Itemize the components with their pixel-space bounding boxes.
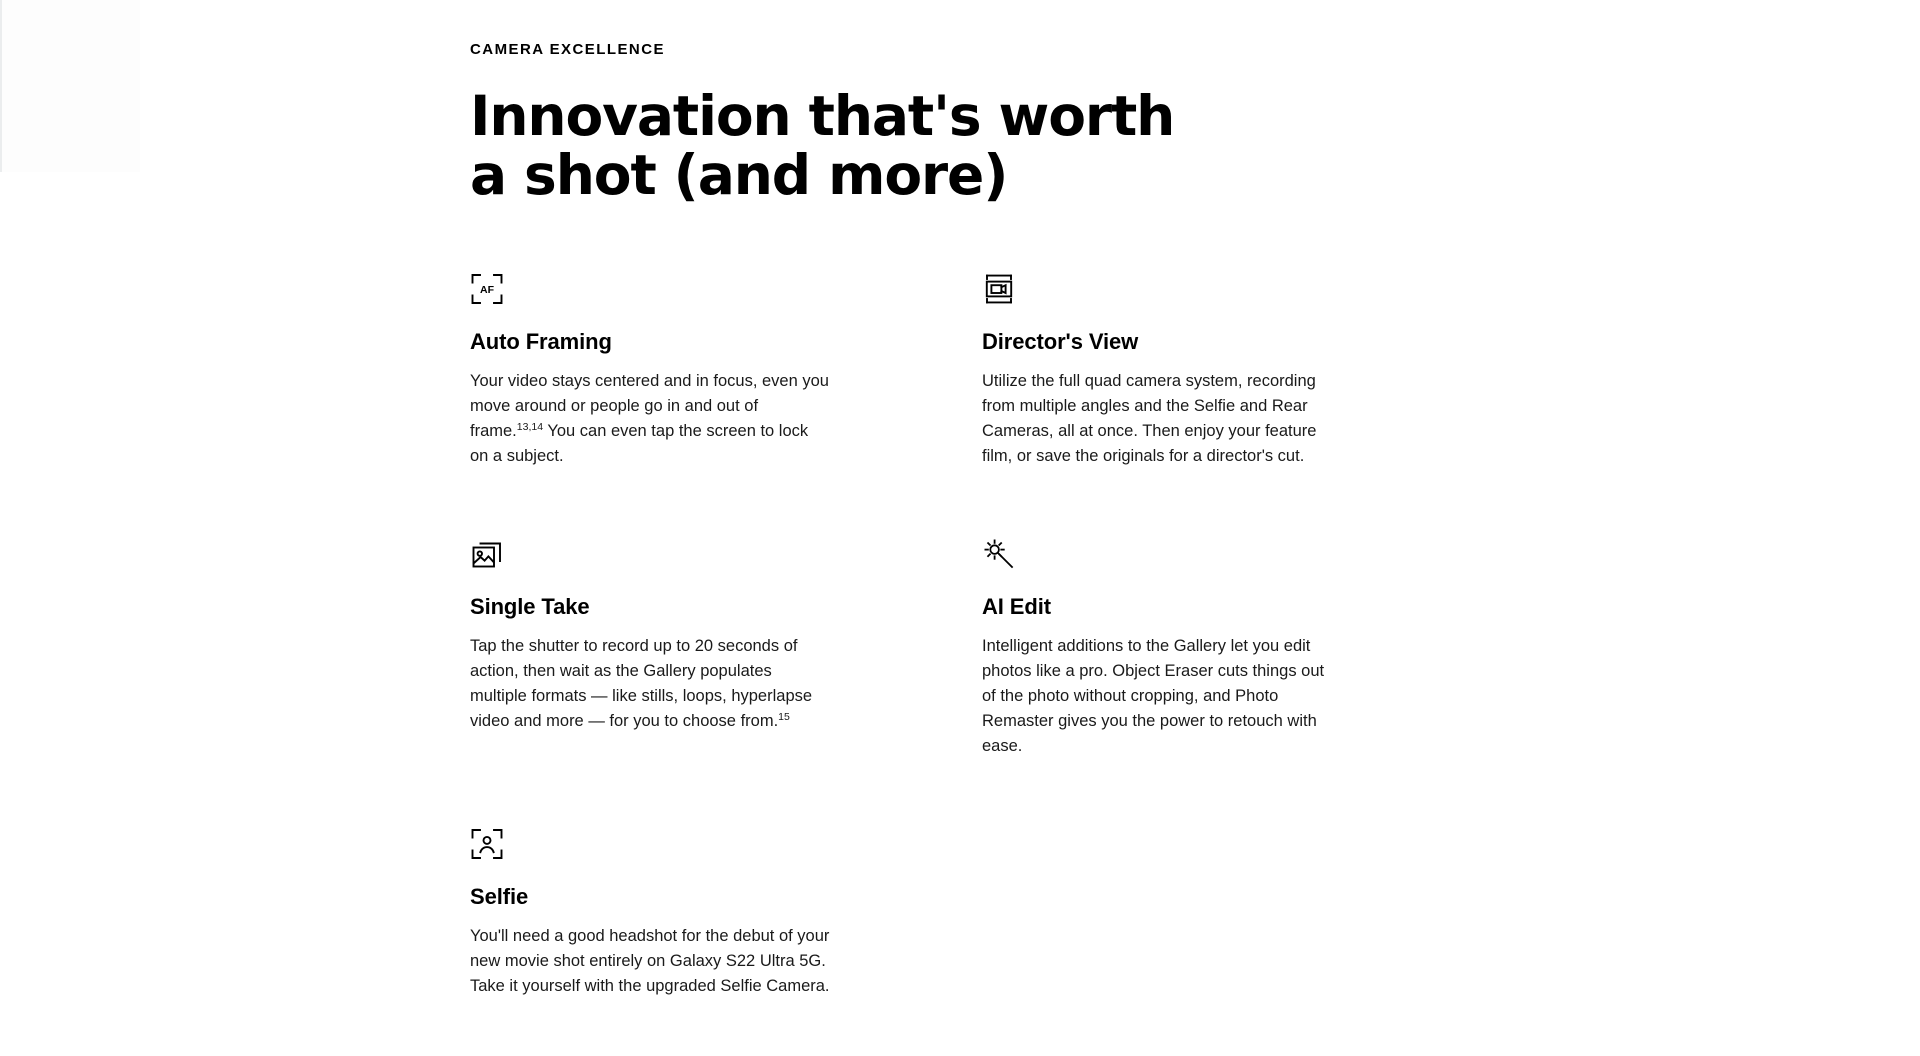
feature-body: Utilize the full quad camera system, rec… bbox=[982, 369, 1342, 469]
feature-footnote-ref: 15 bbox=[778, 711, 790, 723]
svg-text:AF: AF bbox=[480, 284, 495, 296]
feature-card-selfie: Selfie You'll need a good headshot for t… bbox=[470, 811, 830, 1051]
feature-title: Single Take bbox=[470, 593, 830, 621]
headline-line-1: Innovation that's worth bbox=[470, 87, 1230, 146]
section-eyebrow: CAMERA EXCELLENCE bbox=[470, 0, 1470, 60]
page-title: Innovation that's worth a shot (and more… bbox=[470, 60, 1230, 205]
feature-card-single-take: Single Take Tap the shutter to record up… bbox=[470, 521, 830, 811]
feature-body-part-1: You'll need a good headshot for the debu… bbox=[470, 927, 830, 995]
section-header: CAMERA EXCELLENCE Innovation that's wort… bbox=[470, 0, 1470, 205]
feature-card-auto-framing: AF Auto Framing Your video stays centere… bbox=[470, 272, 830, 521]
feature-title: AI Edit bbox=[982, 593, 1342, 621]
directors-view-icon bbox=[982, 272, 1016, 306]
selfie-icon bbox=[470, 827, 504, 861]
feature-card-ai-edit: AI Edit Intelligent additions to the Gal… bbox=[982, 521, 1342, 811]
feature-body-part-1: Utilize the full quad camera system, rec… bbox=[982, 372, 1316, 465]
camera-excellence-section: CAMERA EXCELLENCE Innovation that's wort… bbox=[0, 0, 1920, 1056]
feature-grid: AF Auto Framing Your video stays centere… bbox=[470, 272, 1470, 1051]
feature-title: Director's View bbox=[982, 328, 1342, 356]
feature-body: You'll need a good headshot for the debu… bbox=[470, 924, 830, 999]
left-edge-panel bbox=[0, 0, 140, 172]
feature-body: Tap the shutter to record up to 20 secon… bbox=[470, 634, 830, 734]
headline-line-2: a shot (and more) bbox=[470, 146, 1230, 205]
single-take-icon bbox=[470, 537, 504, 571]
feature-body-part-1: Intelligent additions to the Gallery let… bbox=[982, 637, 1324, 755]
feature-title: Selfie bbox=[470, 883, 830, 911]
left-edge-rule bbox=[0, 0, 2, 172]
auto-framing-icon: AF bbox=[470, 272, 504, 306]
ai-edit-icon bbox=[982, 537, 1016, 571]
feature-card-directors-view: Director's View Utilize the full quad ca… bbox=[982, 272, 1342, 521]
feature-body: Intelligent additions to the Gallery let… bbox=[982, 634, 1342, 759]
feature-footnote-ref: 13,14 bbox=[517, 421, 543, 433]
feature-body-part-1: Tap the shutter to record up to 20 secon… bbox=[470, 637, 812, 730]
feature-body: Your video stays centered and in focus, … bbox=[470, 369, 830, 469]
feature-title: Auto Framing bbox=[470, 328, 830, 356]
